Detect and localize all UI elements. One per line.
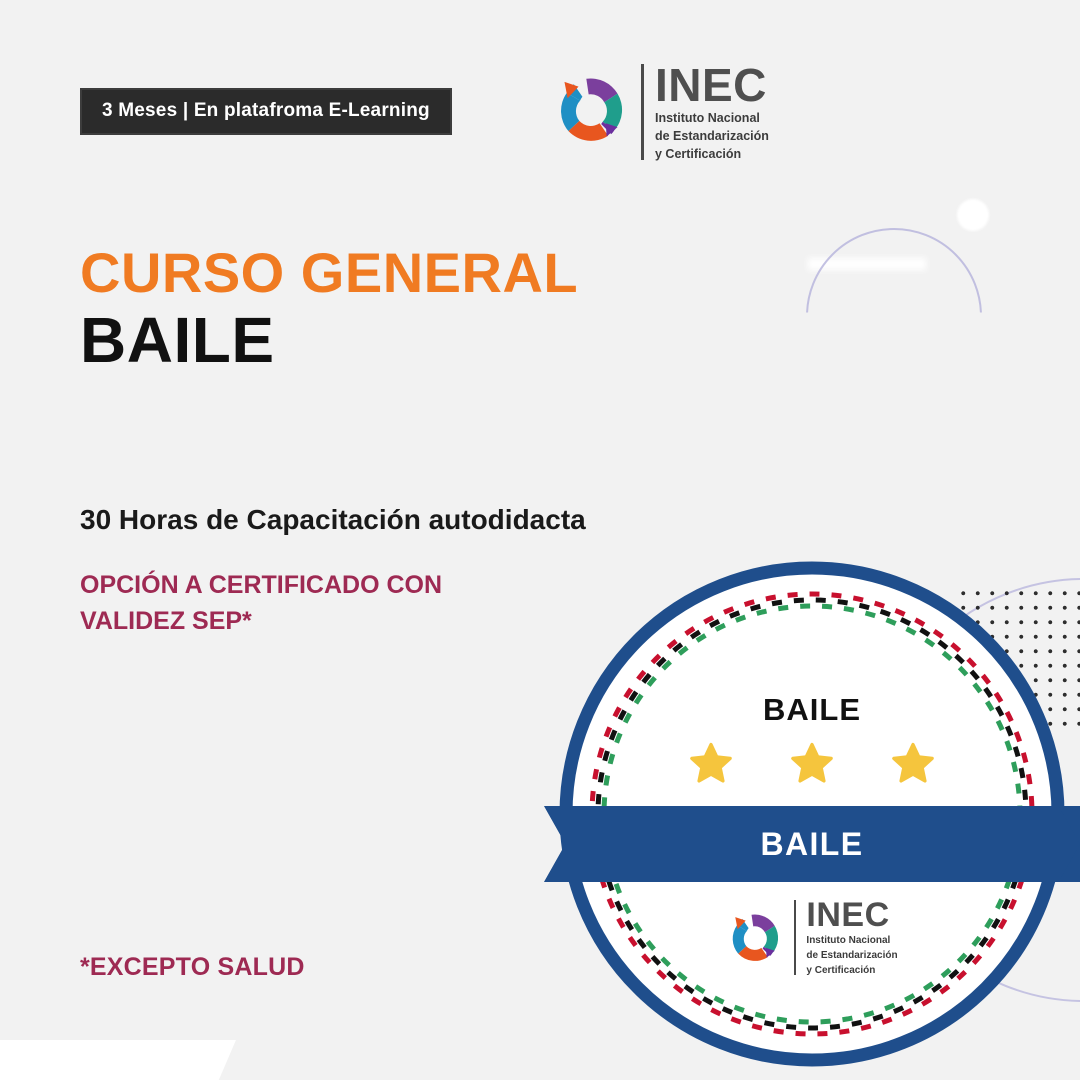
header-logo: INEC Instituto Nacional de Estandarizaci… (552, 62, 769, 162)
certificate-line-1: OPCIÓN A CERTIFICADO CON (80, 571, 442, 599)
promo-poster: 3 Meses | En platafroma E-Learning INEC … (0, 0, 1080, 1080)
certification-seal: BAILE BAILE (556, 558, 1080, 1080)
course-kicker: CURSO GENERAL (80, 245, 578, 301)
seal-logo: INEC Instituto Nacional de Estandarizaci… (556, 898, 1068, 977)
logo-subtitle-2: de Estandarización (806, 949, 897, 962)
course-hours: 30 Horas de Capacitación autodidacta (80, 503, 586, 537)
logo-subtitle-3: y Certificación (655, 146, 769, 162)
logo-wordmark: INEC Instituto Nacional de Estandarizaci… (655, 62, 769, 162)
seal-ribbon-label: BAILE (761, 826, 864, 863)
seal-star-rating (556, 740, 1068, 788)
logo-subtitle-1: Instituto Nacional (655, 110, 769, 126)
logo-subtitle-3: y Certificación (806, 964, 897, 977)
seal-top-label: BAILE (556, 692, 1068, 728)
seal-ribbon: BAILE (544, 806, 1080, 882)
star-icon (788, 740, 836, 788)
logo-acronym: INEC (806, 898, 897, 932)
logo-subtitle-2: de Estandarización (655, 128, 769, 144)
page-title: BAILE (80, 308, 275, 372)
certificate-line-2: VALIDEZ SEP* (80, 607, 252, 635)
duration-badge: 3 Meses | En platafroma E-Learning (80, 88, 452, 135)
seal-ribbon-inner: BAILE (544, 806, 1080, 882)
star-icon (889, 740, 937, 788)
inec-ring-icon (726, 909, 784, 967)
star-icon (687, 740, 735, 788)
footnote: *EXCEPTO SALUD (80, 953, 305, 982)
logo-wordmark: INEC Instituto Nacional de Estandarizaci… (806, 898, 897, 977)
logo-divider (641, 64, 644, 160)
decorative-circle (957, 199, 989, 231)
decorative-bottom-band (0, 1040, 236, 1080)
logo-acronym: INEC (655, 62, 769, 108)
certificate-note: OPCIÓN A CERTIFICADO CON VALIDEZ SEP* (80, 568, 442, 639)
logo-subtitle-1: Instituto Nacional (806, 934, 897, 947)
logo-divider (794, 900, 796, 975)
decorative-arc-top (806, 228, 982, 404)
inec-ring-icon (552, 71, 630, 154)
